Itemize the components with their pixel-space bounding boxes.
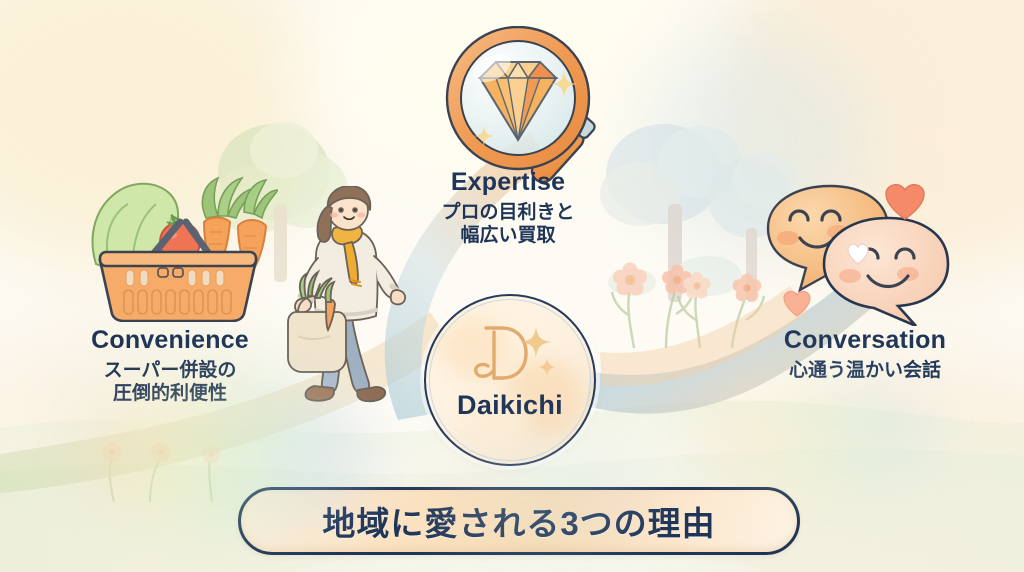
ornate-d-monogram-icon: [424, 320, 596, 391]
rainbow-prism-glow: [694, 372, 934, 492]
speech-bubbles-hearts-icon: [756, 176, 966, 326]
pillar-title-jp-line2: 圧倒的利便性: [20, 383, 320, 405]
pillar-title-en: Convenience: [20, 326, 320, 356]
pillar-label-expertise: Expertise プロの目利きと 幅広い買取: [378, 168, 638, 247]
watercolor-flower-icon: [92, 418, 272, 508]
brand-name: Daikichi: [424, 390, 596, 421]
shopping-basket-icon: [78, 172, 278, 322]
pillar-title-en: Conversation: [720, 326, 1010, 356]
pillar-label-conversation: Conversation 心通う温かい会話: [720, 326, 1010, 382]
pillar-title-jp-line1: プロの目利きと: [378, 202, 638, 224]
pillar-title-jp-line1: 心通う温かい会話: [720, 360, 1010, 382]
pillar-title-jp-line2: 幅広い買取: [378, 225, 638, 247]
pillar-label-convenience: Convenience スーパー併設の 圧倒的利便性: [20, 326, 320, 405]
pillar-title-en: Expertise: [378, 168, 638, 198]
headline-text: 地域に愛される3つの理由: [322, 497, 715, 545]
pillar-title-jp-line1: スーパー併設の: [20, 360, 320, 382]
infographic-canvas: Convenience スーパー併設の 圧倒的利便性 Expertise プロの…: [0, 0, 1024, 572]
brand-emblem: Daikichi: [424, 294, 596, 466]
headline-banner: 地域に愛される3つの理由: [238, 487, 800, 555]
